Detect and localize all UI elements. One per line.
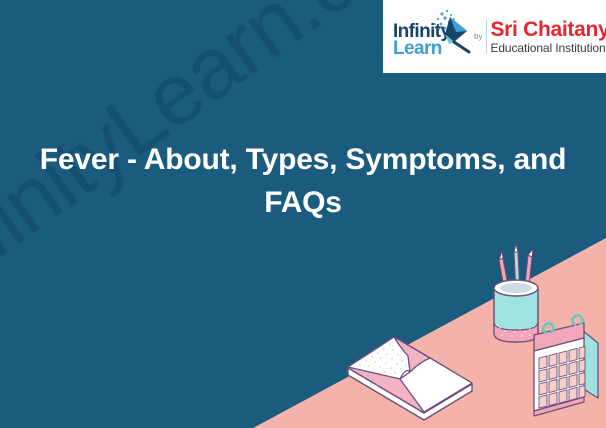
desk-illustration [330,225,606,428]
logo-connector: by [474,14,487,60]
bird-arrow-icon [423,8,473,54]
open-book-illustration [348,337,472,420]
sri-chaitanya-logo: Sri Chaitanya Educational Institutions [490,19,600,54]
logo-divider [486,20,487,54]
by-label: by [474,32,482,41]
partner-tagline: Educational Institutions [490,42,600,54]
logo-card[interactable]: Infinity Learn [383,0,606,73]
page-title: Fever - About, Types, Symptoms, and FAQs [24,138,582,224]
infinity-learn-logo: Infinity Learn [391,6,473,68]
desk-calendar-illustration [534,315,598,416]
partner-name: Sri Chaitanya [490,19,600,40]
poster-canvas: InfinityLearn.com Infinity Learn [0,0,606,428]
pencil-cup-illustration [494,244,538,342]
